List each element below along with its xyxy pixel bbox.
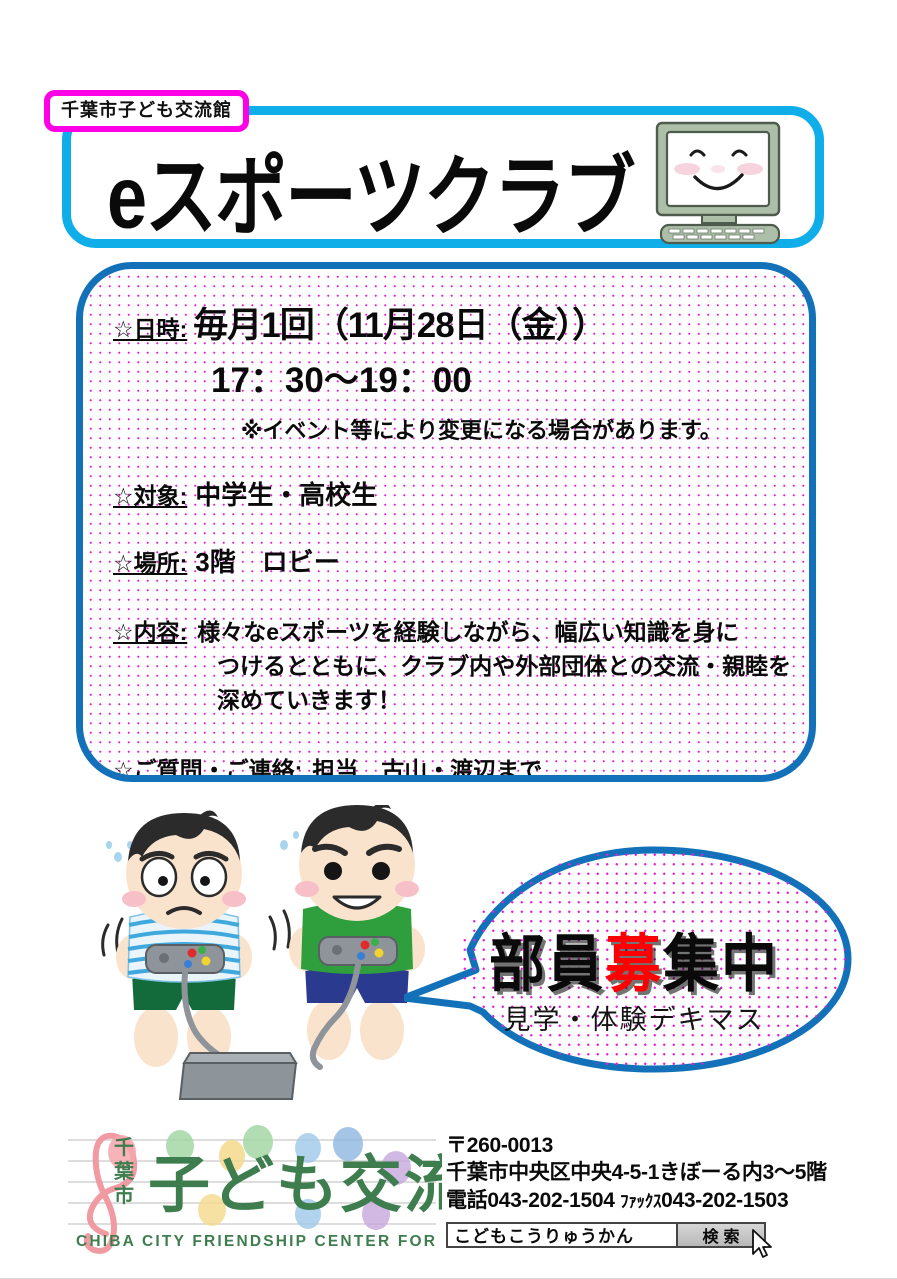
address: 千葉市中央区中央4-5-1きぼーる内3〜5階 (446, 1159, 866, 1186)
search-button[interactable]: 検索 (678, 1222, 766, 1248)
datetime-time: 17：30〜19：00 (211, 352, 791, 403)
target-row: ☆対象: 中学生・高校生 (113, 475, 791, 512)
target-value: 中学生・高校生 (195, 475, 377, 512)
place-value: 3階 ロビー (195, 542, 339, 579)
content-line-1: 様々なeスポーツを経験しながら、幅広い知識を身に (197, 615, 738, 649)
content-line-2: つけるとともに、クラブ内や外部団体との交流・親睦を (217, 649, 791, 683)
info-box: ☆日時: 毎月1回（11月28日（金）） 17：30〜19：00 ※イベント等に… (76, 262, 816, 782)
logo-prefix-char3: 市 (114, 1183, 134, 1207)
place-label: ☆場所: (113, 544, 187, 578)
footer-contact-block: 〒260-0013 千葉市中央区中央4-5-1きぼーる内3〜5階 電話043-2… (446, 1132, 866, 1248)
content-line-3: 深めていきます！ (217, 683, 791, 717)
logo-name: 子ども交流館 (148, 1151, 442, 1220)
bubble-headline-part1: 部員 (489, 929, 605, 1000)
contact-label: ☆ご質問・ご連絡: (113, 751, 302, 782)
target-label: ☆対象: (113, 477, 187, 511)
chiba-city-friendship-center-logo: 千 葉 市 子ども交流館 CHIBA CITY FRIENDSHIP CENTE… (62, 1118, 442, 1258)
datetime-note: ※イベント等により変更になる場合があります。 (241, 413, 791, 445)
bubble-subtext: 見学・体験デキマス (404, 998, 864, 1037)
speech-bubble: 部員募集中 見学・体験デキマス (404, 838, 864, 1083)
postal-code: 〒260-0013 (446, 1132, 866, 1159)
tel-label: 電話 (446, 1189, 487, 1212)
content-label: ☆内容: (113, 613, 187, 647)
fax-label: ﾌｧｯｸｽ (620, 1192, 661, 1211)
search-widget[interactable]: こどもこうりゅうかん 検索 (446, 1222, 766, 1248)
page-title: eスポーツクラブ (107, 125, 634, 253)
tel-number: 043-202-1504 (487, 1189, 614, 1212)
content-row: ☆内容: 様々なeスポーツを経験しながら、幅広い知識を身に つけるとともに、クラ… (113, 613, 791, 717)
logo-english: CHIBA CITY FRIENDSHIP CENTER FOR CHILDRE… (76, 1233, 442, 1250)
datetime-row: ☆日時: 毎月1回（11月28日（金）） 17：30〜19：00 ※イベント等に… (113, 297, 791, 445)
place-row: ☆場所: 3階 ロビー (113, 542, 791, 579)
bubble-headline-part2: 集中 (663, 929, 779, 1000)
datetime-label: ☆日時: (113, 310, 187, 344)
poster-page: eスポーツクラブ (0, 0, 897, 1279)
organization-badge: 千葉市子ども交流館 (44, 90, 249, 132)
bubble-headline: 部員募集中 (404, 914, 864, 1005)
tel-fax-line: 電話043-202-1504 ﾌｧｯｸｽ043-202-1503 (446, 1187, 866, 1214)
contact-value: 担当 古山・渡辺まで (312, 751, 542, 782)
search-input[interactable]: こどもこうりゅうかん (446, 1222, 678, 1248)
datetime-value: 毎月1回（11月28日（金）） (193, 297, 606, 348)
logo-prefix-char1: 千 (114, 1136, 134, 1159)
bubble-headline-highlight: 募 (605, 929, 663, 1000)
smiling-computer-icon (647, 119, 797, 249)
contact-row: ☆ご質問・ご連絡: 担当 古山・渡辺まで (113, 751, 791, 782)
logo-prefix-char2: 葉 (113, 1159, 135, 1183)
fax-number: 043-202-1503 (661, 1189, 788, 1212)
